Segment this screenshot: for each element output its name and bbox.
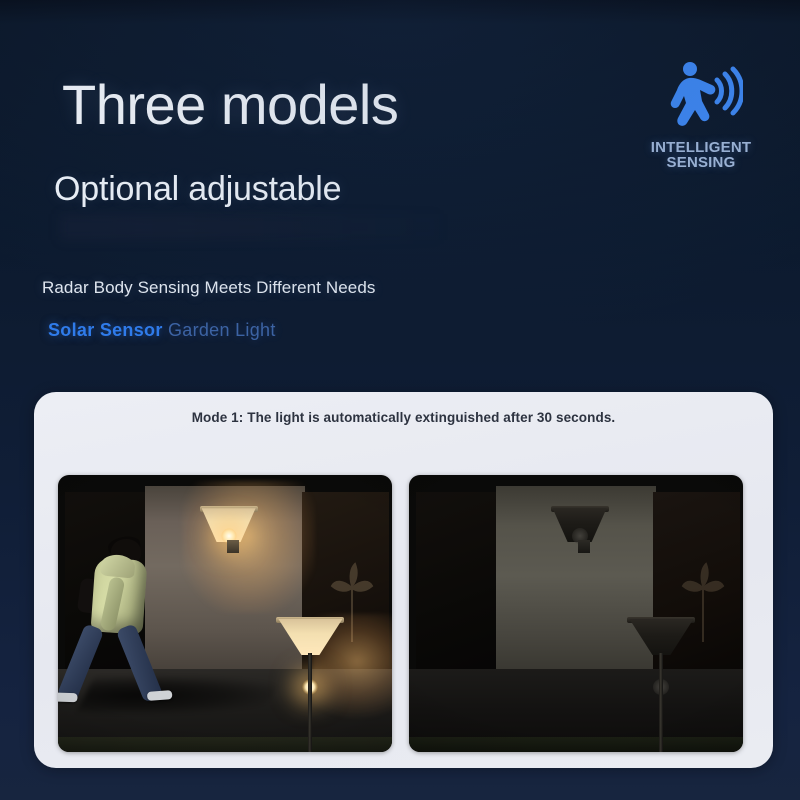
photo-pair — [58, 475, 743, 752]
walking-person — [75, 539, 179, 716]
photo-light-off[interactable] — [409, 475, 743, 752]
garden-stake-light — [629, 619, 693, 752]
walking-person-sensing-icon — [659, 60, 743, 138]
photo-light-on[interactable] — [58, 475, 392, 752]
badge-label: INTELLIGENT SENSING — [645, 140, 757, 171]
badge-label-line1: INTELLIGENT — [645, 140, 757, 155]
product-name: Solar Sensor Garden Light — [48, 320, 276, 341]
poster-background: Three models Optional adjustable Radar B… — [0, 0, 800, 800]
intelligent-sensing-badge: INTELLIGENT SENSING — [645, 60, 757, 171]
wall-sconce-lamp — [553, 508, 607, 554]
wall-sconce-lamp — [202, 508, 256, 554]
product-name-strong: Solar Sensor — [48, 320, 163, 340]
badge-label-line2: SENSING — [645, 155, 757, 170]
product-name-soft: Garden Light — [168, 320, 276, 340]
page-title: Three models — [62, 72, 398, 137]
mode-caption: Mode 1: The light is automatically extin… — [34, 410, 773, 425]
page-subtitle: Optional adjustable — [54, 170, 341, 209]
background-artifact-band — [60, 214, 440, 240]
garden-stake-light — [278, 619, 342, 752]
window-left — [416, 492, 496, 686]
tagline-primary: Radar Body Sensing Meets Different Needs — [42, 278, 375, 298]
mode-card: Mode 1: The light is automatically extin… — [34, 392, 773, 768]
